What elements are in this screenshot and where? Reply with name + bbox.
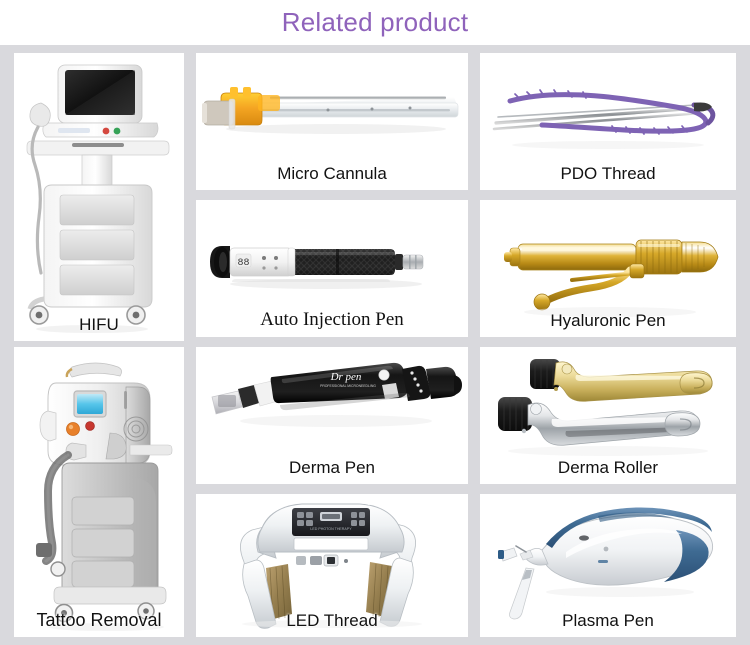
tattoo-removal-machine-image xyxy=(14,347,184,637)
product-label-derma-pen: Derma Pen xyxy=(196,458,468,478)
product-cell-hifu[interactable]: HIFU xyxy=(14,53,184,341)
svg-text:PROFESSIONAL MICRONEEDLING: PROFESSIONAL MICRONEEDLING xyxy=(320,384,376,388)
derma-pen-brand-text: Dr pen xyxy=(330,371,362,383)
svg-text:88: 88 xyxy=(237,258,249,269)
related-product-panel: Related product xyxy=(0,0,750,645)
product-label-hyaluronic-pen: Hyaluronic Pen xyxy=(480,311,736,331)
product-cell-derma-roller[interactable]: Derma Roller xyxy=(480,347,736,484)
product-cell-auto-injection-pen[interactable]: 88 xyxy=(196,200,468,337)
product-cell-micro-cannula[interactable]: Micro Cannula xyxy=(196,53,468,190)
product-cell-tattoo-removal[interactable]: Tattoo Removal xyxy=(14,347,184,637)
product-cell-hyaluronic-pen[interactable]: Hyaluronic Pen xyxy=(480,200,736,337)
svg-text:LED PHOTON THERAPY: LED PHOTON THERAPY xyxy=(310,527,352,531)
product-label-tattoo-removal: Tattoo Removal xyxy=(14,610,184,631)
page-header: Related product xyxy=(0,0,750,45)
product-label-led-thread: LED Thread xyxy=(196,611,468,631)
product-label-micro-cannula: Micro Cannula xyxy=(196,164,468,184)
product-grid: HIFU xyxy=(0,45,750,645)
product-label-plasma-pen: Plasma Pen xyxy=(480,611,736,631)
product-label-pdo-thread: PDO Thread xyxy=(480,164,736,184)
product-cell-plasma-pen[interactable]: Plasma Pen xyxy=(480,494,736,637)
page-title: Related product xyxy=(282,7,469,38)
product-cell-derma-pen[interactable]: Dr pen PROFESSIONAL MICRONEEDLING xyxy=(196,347,468,484)
product-label-derma-roller: Derma Roller xyxy=(480,458,736,478)
product-cell-led-thread[interactable]: LED PHOTON THERAPY xyxy=(196,494,468,637)
product-label-auto-injection-pen: Auto Injection Pen xyxy=(196,309,468,331)
product-label-hifu: HIFU xyxy=(14,315,184,335)
hifu-machine-image xyxy=(14,53,184,341)
product-cell-pdo-thread[interactable]: PDO Thread xyxy=(480,53,736,190)
